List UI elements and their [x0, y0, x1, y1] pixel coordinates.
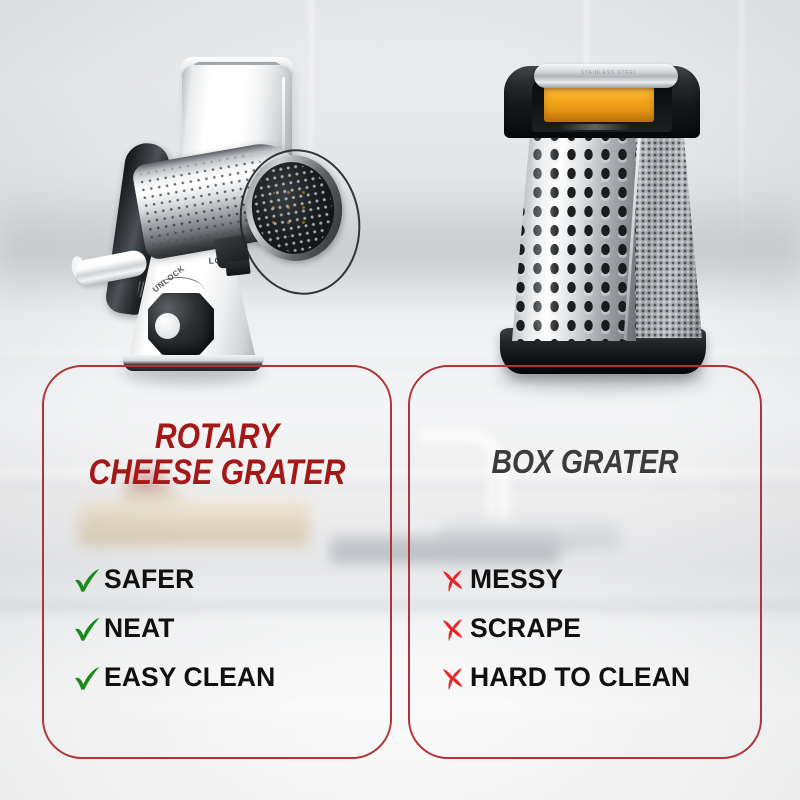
- cross-icon: [436, 664, 470, 692]
- box-grater-image: STAINLESS STEEL: [448, 28, 740, 400]
- box-grater-handle-text: STAINLESS STEEL: [566, 70, 652, 76]
- feature-list-box: MESSY SCRAPE HARD TO CLEAN: [436, 555, 748, 702]
- check-icon: [70, 614, 104, 644]
- box-grater-coarse-holes: [512, 126, 636, 341]
- check-icon: [70, 565, 104, 595]
- feature-row: EASY CLEAN: [70, 653, 378, 702]
- feature-label: MESSY: [470, 564, 563, 595]
- cross-icon: [436, 566, 470, 594]
- box-grater-steel-handle: [534, 64, 678, 88]
- feature-list-rotary: SAFER NEAT EASY CLEAN: [70, 555, 378, 702]
- feature-label: NEAT: [104, 613, 175, 644]
- feature-row: MESSY: [436, 555, 748, 604]
- rotary-cheese-grater-image: UNLOCK LOCK: [30, 25, 360, 395]
- grater-knob-dot: [155, 313, 180, 339]
- feature-label: EASY CLEAN: [104, 662, 275, 693]
- box-grater-fine-rasp: [634, 128, 702, 338]
- grater-drum-bracket: [225, 260, 250, 276]
- card-title-rotary: ROTARY CHEESE GRATER: [68, 419, 366, 490]
- cross-icon: [436, 615, 470, 643]
- feature-label: SAFER: [104, 564, 194, 595]
- comparison-card-rotary: ROTARY CHEESE GRATER SAFER NEAT: [42, 365, 392, 759]
- box-grater-orange-accent: [544, 82, 654, 122]
- card-title-line1: ROTARY: [68, 419, 366, 455]
- check-icon: [70, 663, 104, 693]
- feature-label: SCRAPE: [470, 613, 581, 644]
- feature-row: SAFER: [70, 555, 378, 604]
- infographic-canvas: UNLOCK LOCK STAINLESS STEEL: [0, 0, 800, 800]
- feature-row: SCRAPE: [436, 604, 748, 653]
- feature-row: HARD TO CLEAN: [436, 653, 748, 702]
- feature-row: NEAT: [70, 604, 378, 653]
- feature-label: HARD TO CLEAN: [470, 662, 690, 693]
- card-title-box: BOX GRATER: [435, 445, 736, 479]
- card-title-line1: BOX GRATER: [435, 445, 736, 479]
- comparison-card-box: BOX GRATER MESSY SCRAPE: [408, 365, 762, 759]
- box-grater-cap-slot: [558, 124, 632, 130]
- card-title-line2: CHEESE GRATER: [68, 455, 366, 491]
